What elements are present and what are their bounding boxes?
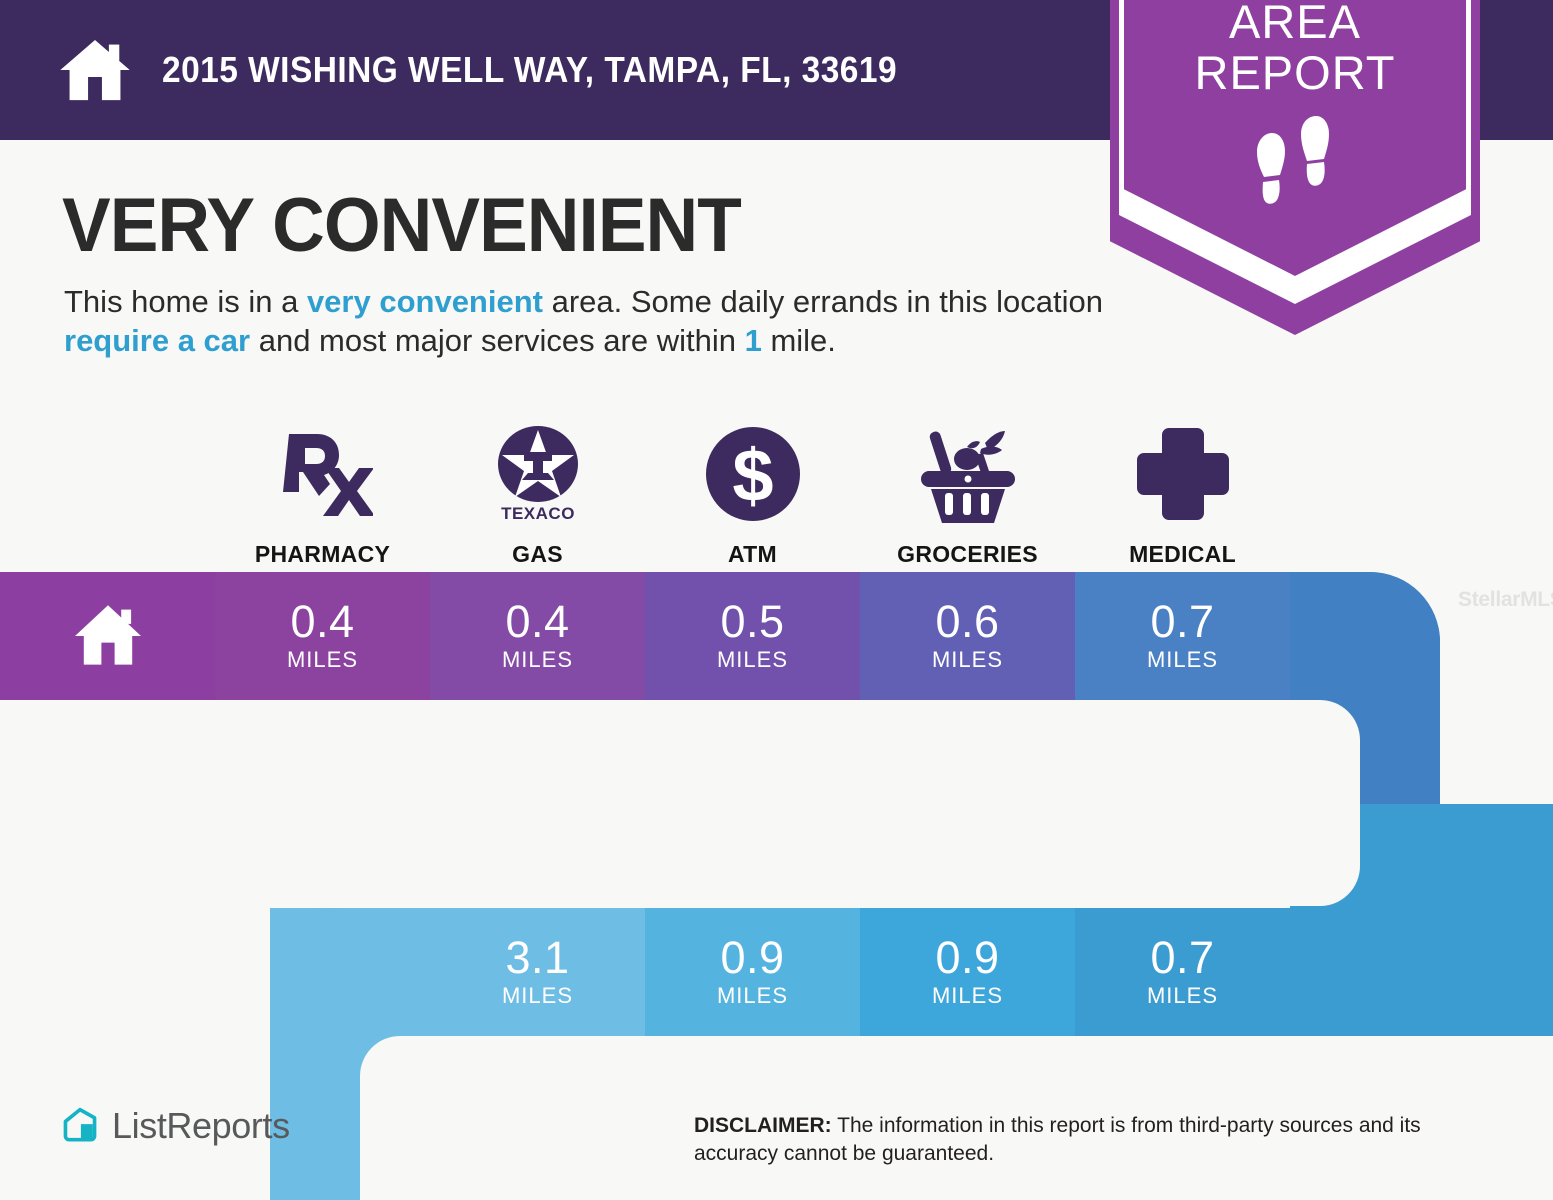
- amenity-gas: TEXACO GAS: [430, 420, 645, 568]
- desc-text-2: area. Some daily errands in this locatio…: [543, 284, 1103, 319]
- house-icon: [72, 603, 144, 669]
- area-report-infographic: 2015 WISHING WELL WAY, TAMPA, FL, 33619 …: [0, 0, 1553, 1200]
- summary-description: This home is in a very convenient area. …: [64, 282, 1109, 360]
- desc-highlight-1: very convenient: [307, 284, 543, 319]
- ribbon-cell-coffee: [645, 908, 860, 1036]
- amenity-icons-row-1: PHARMACY TEXACO GAS $: [215, 420, 1290, 568]
- ribbon-cell-groceries: [860, 572, 1075, 700]
- badge-white-border: AREA REPORT: [1119, 0, 1471, 304]
- amenity-groceries: GROCERIES: [860, 420, 1075, 568]
- desc-text-4: mile.: [762, 323, 836, 358]
- amenity-medical: MEDICAL: [1075, 420, 1290, 568]
- basket-icon: [915, 420, 1021, 528]
- listreports-house-tag-icon: [60, 1106, 100, 1146]
- desc-highlight-3: 1: [745, 323, 762, 358]
- ribbon-cell-pharmacy: [215, 572, 430, 700]
- ribbon-cell-movie: [430, 908, 645, 1036]
- desc-text-1: This home is in a: [64, 284, 307, 319]
- ribbon-cell-gym: [1075, 908, 1290, 1036]
- ribbon-cell-medical: [1075, 572, 1290, 700]
- amenity-label: PHARMACY: [255, 541, 390, 568]
- ribbon-home-icon-cell: [0, 572, 215, 700]
- ribbon-inner-cut-right: [1290, 700, 1360, 906]
- amenity-label: MEDICAL: [1129, 541, 1236, 568]
- area-report-badge: AREA REPORT: [1110, 0, 1480, 335]
- ribbon-cell-atm: [645, 572, 860, 700]
- ribbon-cell-gas: [430, 572, 645, 700]
- footprints-icon: [1239, 116, 1349, 221]
- dollar-icon: $: [703, 420, 803, 528]
- badge-fill: AREA REPORT: [1124, 0, 1466, 276]
- amenity-label: GAS: [512, 541, 563, 568]
- ribbon-gap-fill: [0, 700, 1292, 906]
- page-title: VERY CONVENIENT: [62, 186, 741, 266]
- texaco-wordmark: TEXACO: [501, 504, 575, 523]
- amenity-atm: $ ATM: [645, 420, 860, 568]
- ribbon-cell-cleaners: [860, 908, 1075, 1036]
- logo-text: ListReports: [112, 1105, 290, 1147]
- amenity-label: ATM: [728, 541, 777, 568]
- badge-line-2: REPORT: [1124, 47, 1466, 98]
- desc-text-3: and most major services are within: [250, 323, 744, 358]
- texaco-icon: TEXACO: [486, 420, 590, 528]
- ribbon-inner-cut-left: [360, 1036, 430, 1200]
- rx-icon: [273, 420, 373, 528]
- amenity-pharmacy: PHARMACY: [215, 420, 430, 568]
- amenity-label: GROCERIES: [897, 541, 1038, 568]
- svg-text:$: $: [732, 434, 773, 517]
- disclaimer-label: DISCLAIMER:: [694, 1114, 832, 1137]
- listreports-logo: ListReports: [60, 1105, 290, 1147]
- badge-line-1: AREA: [1124, 0, 1466, 47]
- house-icon: [58, 33, 132, 107]
- stellarmls-watermark: StellarMLS: [1458, 588, 1553, 612]
- property-address: 2015 WISHING WELL WAY, TAMPA, FL, 33619: [162, 49, 897, 91]
- badge-title: AREA REPORT: [1124, 0, 1466, 98]
- disclaimer: DISCLAIMER: The information in this repo…: [694, 1112, 1504, 1168]
- desc-highlight-2: require a car: [64, 323, 250, 358]
- cross-icon: [1133, 420, 1233, 528]
